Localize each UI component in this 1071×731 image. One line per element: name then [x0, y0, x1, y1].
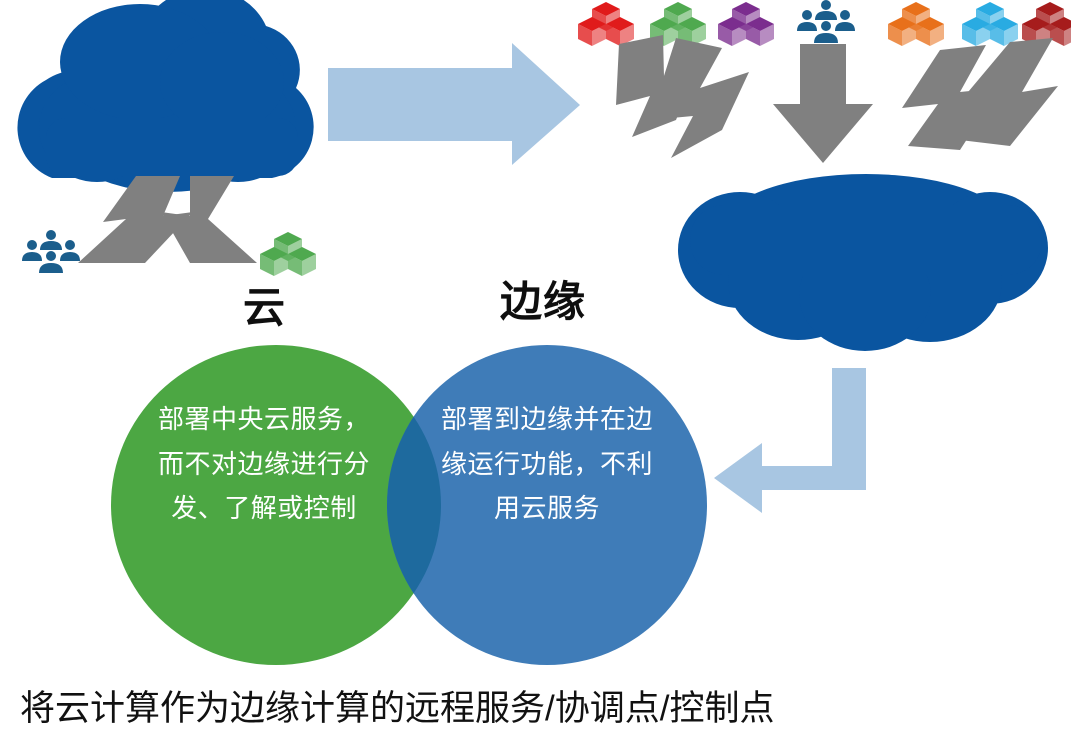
people-group-left-icon — [22, 230, 80, 273]
arrow-fan-down-right-cloud-icon — [616, 35, 1058, 163]
diagram-canvas: 云 边缘 部署中央云服务，而不对边缘进行分发、了解或控制 部署到边缘并在边缘运行… — [0, 0, 1071, 731]
cubes-cyan-top-icon — [962, 2, 1018, 46]
arrow-right-icon — [328, 43, 580, 165]
diagram-caption: 将云计算作为边缘计算的远程服务/协调点/控制点 — [20, 680, 774, 731]
cubes-purple-top-icon — [718, 2, 774, 46]
cubes-green-left-icon — [260, 232, 316, 276]
diagram-artwork — [0, 0, 1071, 731]
cubes-orange-top-icon — [888, 2, 944, 46]
people-group-top-icon — [797, 0, 855, 43]
cubes-red-top-icon — [578, 2, 634, 46]
venn-label-edge: 边缘 — [500, 281, 586, 323]
cloud-right-icon — [678, 174, 1048, 351]
venn-label-cloud: 云 — [243, 287, 286, 329]
arrow-fan-down-left-icon — [78, 176, 257, 263]
cloud-left-icon — [17, 0, 313, 192]
arrow-elbow-left-icon — [714, 368, 866, 513]
